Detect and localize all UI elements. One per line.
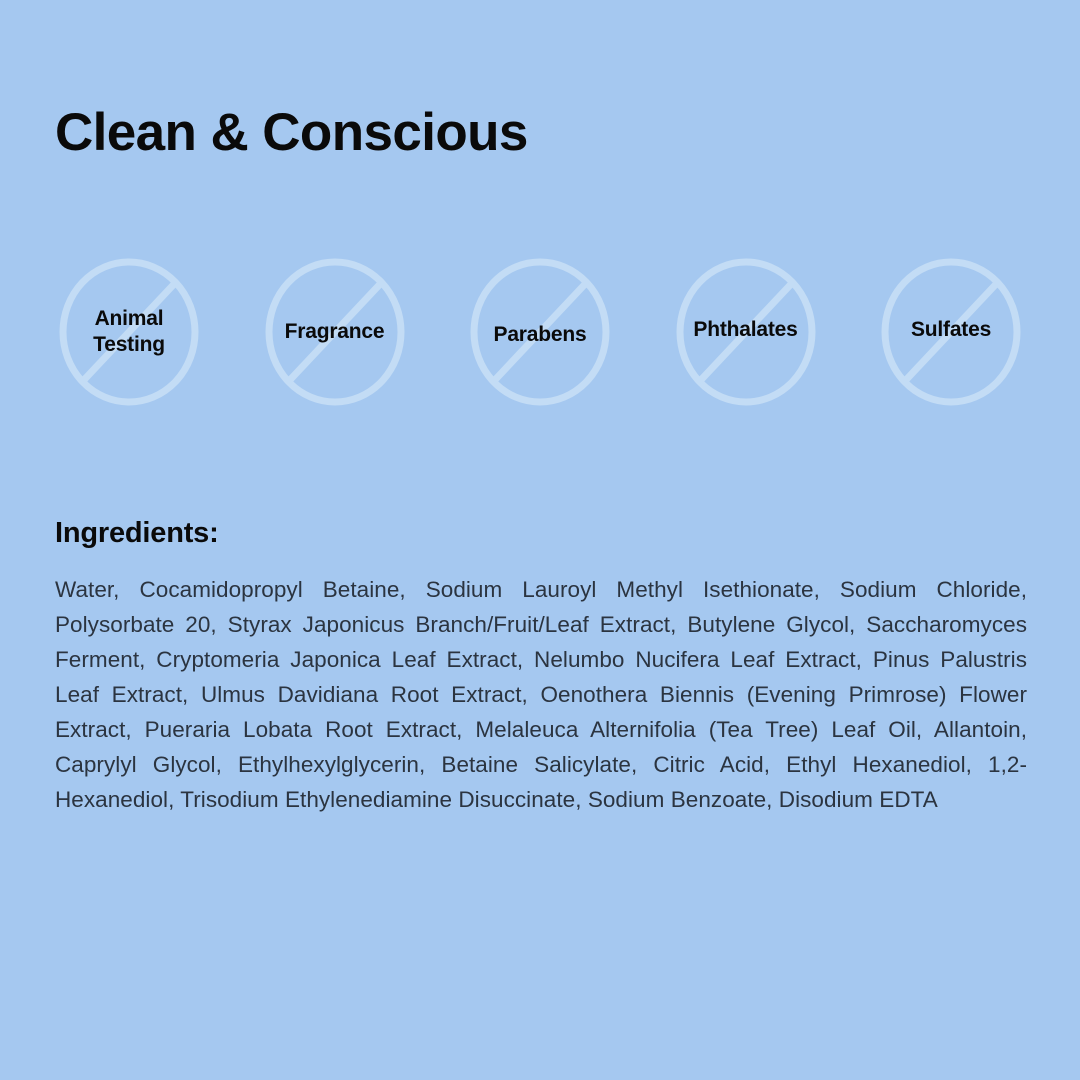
free-from-badge-row: Animal Testing Fragrance Parabens Phthal… xyxy=(55,258,1025,406)
badge-label: Animal Testing xyxy=(93,306,165,357)
badge-animal-testing: Animal Testing xyxy=(55,258,203,406)
ingredients-list: Water, Cocamidopropyl Betaine, Sodium La… xyxy=(55,572,1027,817)
badge-label: Parabens xyxy=(494,322,587,348)
badge-phthalates: Phthalates xyxy=(672,258,820,406)
page-title: Clean & Conscious xyxy=(55,103,528,162)
clean-conscious-panel: Clean & Conscious Animal Testing Fragran… xyxy=(0,0,1080,1080)
badge-fragrance: Fragrance xyxy=(261,258,409,406)
badge-label: Phthalates xyxy=(693,317,797,343)
badge-label: Fragrance xyxy=(285,319,385,345)
badge-label: Sulfates xyxy=(911,317,991,343)
ingredients-heading: Ingredients: xyxy=(55,517,219,550)
badge-sulfates: Sulfates xyxy=(877,258,1025,406)
badge-parabens: Parabens xyxy=(466,258,614,406)
